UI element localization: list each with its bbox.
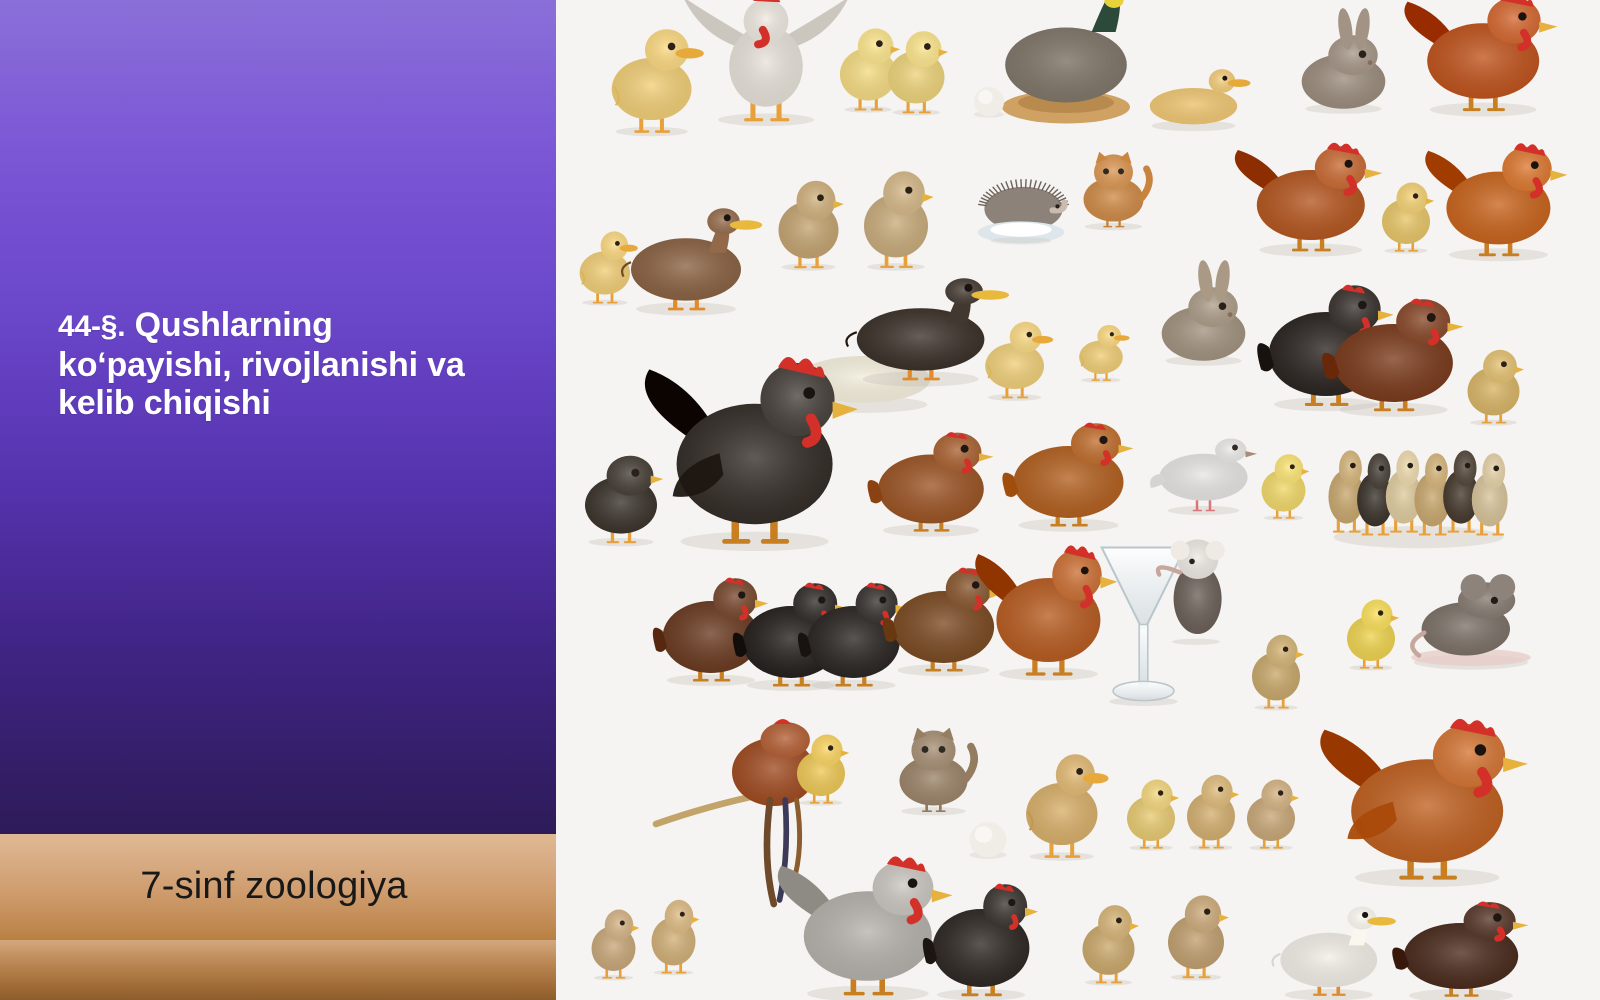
egg-bottom	[970, 822, 1007, 858]
title-line-1: Qushlarning	[125, 306, 332, 344]
poultry-collage-image	[556, 0, 1600, 1000]
title-line-2: ko‘payishi, rivojlanishi va	[58, 346, 465, 384]
title-line-3: kelib chiqishi	[58, 384, 271, 422]
slide-root: 44-§. Qushlarning ko‘payishi, rivojlanis…	[0, 0, 1600, 1000]
collage-canvas	[556, 0, 1600, 1000]
egg-left	[974, 87, 1004, 118]
subject-banner-label: 7-sinf zoologiya	[0, 836, 548, 936]
saucer	[978, 221, 1064, 244]
slide-title: 44-§. Qushlarning ko‘payishi, rivojlanis…	[58, 306, 698, 422]
section-number: 44-§.	[58, 310, 125, 343]
banner-lower-band	[0, 940, 556, 1000]
